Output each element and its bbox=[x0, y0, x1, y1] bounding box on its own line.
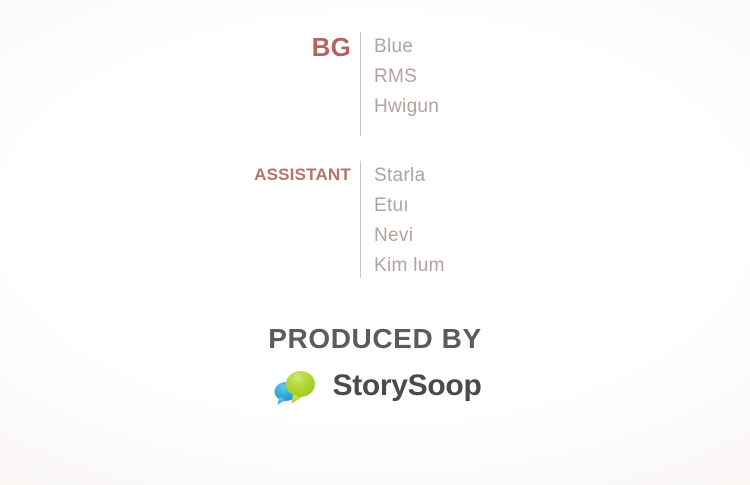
credit-names-bg: Blue RMS Hwigun bbox=[361, 32, 439, 122]
credit-role-label-bg: BG bbox=[0, 32, 360, 62]
brand-lockup: StorySoop bbox=[269, 367, 482, 405]
credit-name: Starla bbox=[374, 161, 445, 191]
credits-screen: BG Blue RMS Hwigun ASSISTANT Starla Etuı… bbox=[0, 0, 750, 485]
credit-name: Nevi bbox=[374, 221, 445, 251]
produced-by-heading: PRODUCED BY bbox=[0, 323, 750, 355]
speech-bubbles-icon bbox=[269, 367, 323, 405]
credits-list: BG Blue RMS Hwigun ASSISTANT Starla Etuı… bbox=[0, 32, 750, 281]
brand-name-storysoop: StorySoop bbox=[333, 369, 482, 403]
produced-by-block: PRODUCED BY bbox=[0, 323, 750, 410]
credit-name: Blue bbox=[374, 32, 439, 62]
credit-name: RMS bbox=[374, 62, 439, 92]
credit-names-assistant: Starla Etuı Nevi Kim lum bbox=[361, 161, 445, 281]
credit-name: Kim lum bbox=[374, 251, 445, 281]
credit-name: Etuı bbox=[374, 191, 445, 221]
credit-group-bg: BG Blue RMS Hwigun bbox=[0, 32, 750, 136]
credit-role-label-assistant: ASSISTANT bbox=[0, 161, 360, 189]
credit-name: Hwigun bbox=[374, 92, 439, 122]
credit-group-assistant: ASSISTANT Starla Etuı Nevi Kim lum bbox=[0, 161, 750, 281]
